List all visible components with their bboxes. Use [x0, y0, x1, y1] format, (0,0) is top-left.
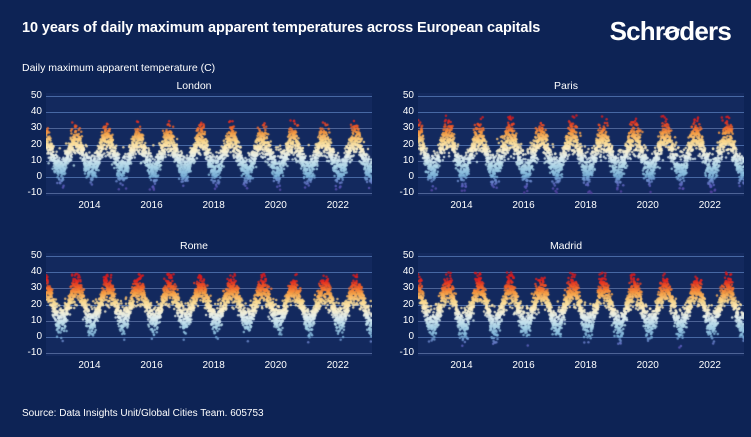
y-axis: 50403020100-10 — [386, 253, 414, 356]
chart-panel-london: London50403020100-1020142016201820202022 — [14, 80, 374, 232]
y-axis-tick-label: -10 — [28, 348, 42, 358]
y-axis-tick-label: 30 — [31, 123, 42, 133]
y-axis-tick-label: 10 — [403, 156, 414, 166]
plot-area — [418, 93, 744, 196]
x-axis-tick-label: 2016 — [140, 360, 162, 371]
y-axis-tick-label: 10 — [31, 316, 42, 326]
y-axis-tick-label: 30 — [403, 283, 414, 293]
x-axis-tick-label: 2014 — [78, 200, 100, 211]
x-axis-tick-label: 2022 — [327, 200, 349, 211]
x-axis-tick-label: 2018 — [575, 360, 597, 371]
plot-wrapper: 50403020100-1020142016201820202022 — [386, 93, 746, 214]
page-title: 10 years of daily maximum apparent tempe… — [22, 20, 540, 36]
y-axis-tick-label: 0 — [36, 332, 42, 342]
chart-title-rome: Rome — [14, 240, 374, 252]
plot-wrapper: 50403020100-1020142016201820202022 — [386, 253, 746, 374]
plot-wrapper: 50403020100-1020142016201820202022 — [14, 253, 374, 374]
source-note: Source: Data Insights Unit/Global Cities… — [22, 408, 264, 419]
y-axis-tick-label: 50 — [403, 91, 414, 101]
header: 10 years of daily maximum apparent tempe… — [0, 0, 751, 52]
y-axis-tick-label: 30 — [403, 123, 414, 133]
x-axis-tick-label: 2022 — [699, 200, 721, 211]
y-axis-tick-label: 40 — [31, 107, 42, 117]
x-axis-tick-label: 2020 — [637, 200, 659, 211]
chart-title-london: London — [14, 80, 374, 92]
plot-area — [46, 93, 372, 196]
x-axis-tick-label: 2020 — [265, 200, 287, 211]
y-axis-tick-label: -10 — [28, 188, 42, 198]
y-axis-tick-label: 40 — [31, 267, 42, 277]
y-axis: 50403020100-10 — [386, 93, 414, 196]
x-axis-tick-label: 2022 — [699, 360, 721, 371]
y-axis-tick-label: 30 — [31, 283, 42, 293]
schroders-logo: Schroders — [610, 16, 731, 47]
x-axis: 20142016201820202022 — [14, 198, 374, 214]
scatter-points — [418, 253, 744, 356]
y-axis-tick-label: 40 — [403, 107, 414, 117]
plot-wrapper: 50403020100-1020142016201820202022 — [14, 93, 374, 214]
x-axis-tick-label: 2022 — [327, 360, 349, 371]
logo-crossed-o: o — [664, 16, 679, 47]
chart-subtitle: Daily maximum apparent temperature (C) — [22, 62, 215, 74]
y-axis-tick-label: 20 — [403, 300, 414, 310]
scatter-points — [418, 93, 744, 196]
chart-panel-grid: London50403020100-1020142016201820202022… — [0, 80, 751, 390]
x-axis-tick-label: 2014 — [450, 200, 472, 211]
x-axis: 20142016201820202022 — [386, 358, 746, 374]
x-axis-tick-label: 2018 — [203, 360, 225, 371]
x-axis-tick-label: 2014 — [78, 360, 100, 371]
x-axis-tick-label: 2018 — [575, 200, 597, 211]
x-axis-tick-label: 2016 — [140, 200, 162, 211]
y-axis-tick-label: 0 — [408, 332, 414, 342]
infographic-page: 10 years of daily maximum apparent tempe… — [0, 0, 751, 437]
y-axis-tick-label: 40 — [403, 267, 414, 277]
y-axis-tick-label: 20 — [31, 140, 42, 150]
logo-text-end: ders — [679, 16, 731, 46]
y-axis-tick-label: 0 — [36, 172, 42, 182]
y-axis: 50403020100-10 — [14, 93, 42, 196]
x-axis-tick-label: 2018 — [203, 200, 225, 211]
x-axis-tick-label: 2016 — [512, 200, 534, 211]
plot-area — [418, 253, 744, 356]
x-axis-tick-label: 2016 — [512, 360, 534, 371]
chart-panel-rome: Rome50403020100-1020142016201820202022 — [14, 240, 374, 392]
logo-text-start: Schr — [610, 16, 665, 46]
y-axis-tick-label: 50 — [31, 91, 42, 101]
y-axis: 50403020100-10 — [14, 253, 42, 356]
y-axis-tick-label: 20 — [31, 300, 42, 310]
y-axis-tick-label: 10 — [31, 156, 42, 166]
y-axis-tick-label: -10 — [400, 188, 414, 198]
y-axis-tick-label: 20 — [403, 140, 414, 150]
x-axis: 20142016201820202022 — [14, 358, 374, 374]
y-axis-tick-label: 0 — [408, 172, 414, 182]
x-axis: 20142016201820202022 — [386, 198, 746, 214]
y-axis-tick-label: 50 — [403, 251, 414, 261]
y-axis-tick-label: -10 — [400, 348, 414, 358]
chart-title-madrid: Madrid — [386, 240, 746, 252]
chart-panel-madrid: Madrid50403020100-1020142016201820202022 — [386, 240, 746, 392]
x-axis-tick-label: 2014 — [450, 360, 472, 371]
chart-title-paris: Paris — [386, 80, 746, 92]
plot-area — [46, 253, 372, 356]
x-axis-tick-label: 2020 — [265, 360, 287, 371]
x-axis-tick-label: 2020 — [637, 360, 659, 371]
chart-panel-paris: Paris50403020100-1020142016201820202022 — [386, 80, 746, 232]
y-axis-tick-label: 50 — [31, 251, 42, 261]
scatter-points — [46, 253, 372, 356]
scatter-points — [46, 93, 372, 196]
y-axis-tick-label: 10 — [403, 316, 414, 326]
